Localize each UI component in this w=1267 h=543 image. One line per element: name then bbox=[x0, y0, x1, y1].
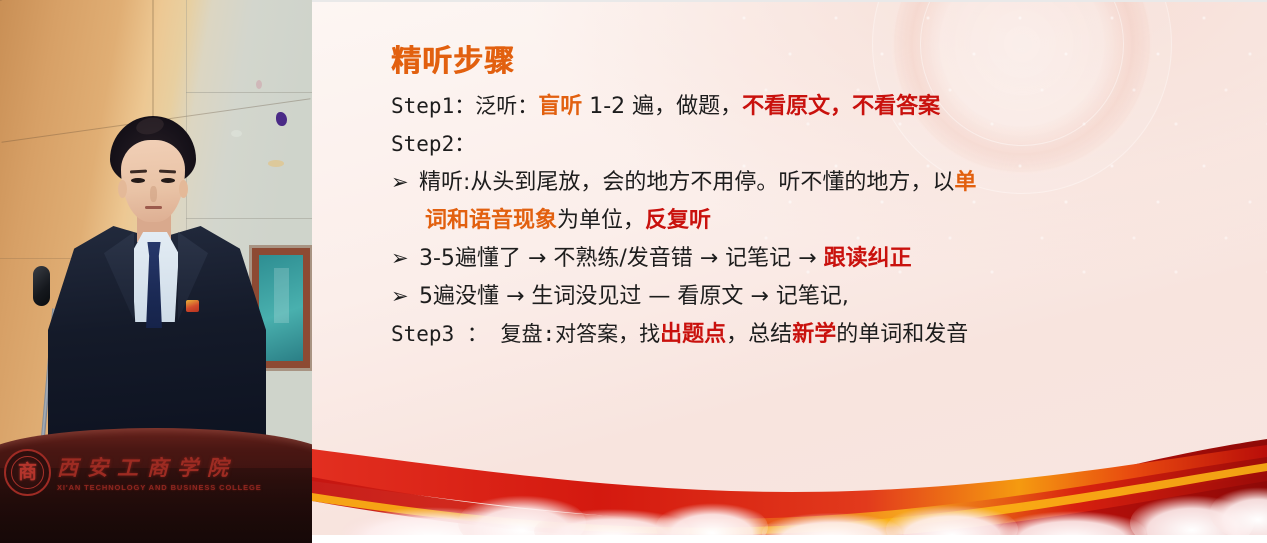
text-segment: 新学 bbox=[792, 322, 836, 347]
presenter-ear-right bbox=[179, 180, 188, 198]
slide-content: 精听步骤 Step1：泛听：盲听 1-2 遍，做题，不看原文，不看答案Step2… bbox=[391, 36, 1231, 362]
presenter-brow-left bbox=[130, 170, 147, 174]
bullet-arrow-icon: ➢ bbox=[391, 172, 419, 193]
text-segment: 3-5遍懂了 → 不熟练/发音错 → 记笔记 → bbox=[419, 246, 824, 271]
presenter-nose bbox=[150, 186, 157, 202]
slide-line-step2: Step2： bbox=[391, 134, 1231, 156]
slide-title: 精听步骤 bbox=[391, 36, 1231, 80]
presenter-brow-right bbox=[159, 170, 176, 174]
text-segment: 的单词和发音 bbox=[836, 322, 968, 347]
slide-line-bullet1a: ➢精听:从头到尾放，会的地方不用停。听不懂的地方，以单 bbox=[391, 172, 1231, 194]
university-logo-text: 西安工商学院 XI'AN TECHNOLOGY AND BUSINESS COL… bbox=[57, 452, 262, 492]
text-segment: 单 bbox=[954, 170, 976, 195]
text-segment: 跟读纠正 bbox=[824, 246, 912, 271]
university-crest-icon: 商 bbox=[4, 449, 51, 496]
presenter-mouth bbox=[145, 206, 162, 209]
text-segment: 1-2 遍，做题， bbox=[582, 94, 742, 119]
presenter-face bbox=[121, 140, 185, 222]
slide-line-bullet1b: 词和语音现象为单位，反复听 bbox=[391, 210, 1231, 232]
text-segment: Step1：泛听： bbox=[391, 94, 538, 118]
slide-line-step3: Step3 ： 复盘:对答案，找出题点，总结新学的单词和发音 bbox=[391, 324, 1231, 346]
slide-lines: Step1：泛听：盲听 1-2 遍，做题，不看原文，不看答案Step2：➢精听:… bbox=[391, 96, 1231, 346]
presenter-video-panel[interactable]: 商 西安工商学院 XI'AN TECHNOLOGY AND BUSINESS C… bbox=[0, 0, 312, 543]
slide-line-bullet2: ➢3-5遍懂了 → 不熟练/发音错 → 记笔记 → 跟读纠正 bbox=[391, 248, 1231, 270]
text-segment: 词和语音现象 bbox=[425, 208, 557, 233]
ribbon-graphic bbox=[312, 431, 1267, 543]
lapel-pin-icon bbox=[186, 300, 199, 312]
bullet-arrow-icon: ➢ bbox=[391, 248, 419, 269]
text-segment: 盲听 bbox=[538, 94, 582, 119]
university-name-en: XI'AN TECHNOLOGY AND BUSINESS COLLEGE bbox=[57, 483, 262, 492]
text-segment: 反复听 bbox=[645, 208, 711, 233]
screen-root: 商 西安工商学院 XI'AN TECHNOLOGY AND BUSINESS C… bbox=[0, 0, 1267, 543]
text-segment: ，总结 bbox=[726, 322, 792, 347]
decorative-ribbon-banner bbox=[312, 431, 1267, 543]
text-segment: 为单位， bbox=[557, 208, 645, 233]
bullet-arrow-icon: ➢ bbox=[391, 286, 419, 307]
presentation-slide[interactable]: 精听步骤 Step1：泛听：盲听 1-2 遍，做题，不看原文，不看答案Step2… bbox=[312, 0, 1267, 543]
crest-glyph: 商 bbox=[18, 463, 37, 482]
presenter-eye-right bbox=[161, 178, 175, 183]
text-segment: 精听:从头到尾放，会的地方不用停。听不懂的地方，以 bbox=[419, 170, 954, 195]
text-segment: 不看原文，不看答案 bbox=[742, 94, 940, 119]
text-segment: Step3 ： 复盘:对答案，找 bbox=[391, 322, 660, 346]
university-name-cn: 西安工商学院 bbox=[57, 452, 262, 482]
slide-line-step1: Step1：泛听：盲听 1-2 遍，做题，不看原文，不看答案 bbox=[391, 96, 1231, 118]
presenter-eye-left bbox=[131, 178, 145, 183]
text-segment: 出题点 bbox=[660, 322, 726, 347]
presenter-ear-left bbox=[118, 180, 127, 198]
text-segment: Step2： bbox=[391, 132, 475, 156]
text-segment: 5遍没懂 → 生词没见过 — 看原文 → 记笔记, bbox=[419, 284, 849, 309]
slide-line-bullet3: ➢5遍没懂 → 生词没见过 — 看原文 → 记笔记, bbox=[391, 286, 1231, 308]
university-logo: 商 西安工商学院 XI'AN TECHNOLOGY AND BUSINESS C… bbox=[4, 443, 312, 501]
